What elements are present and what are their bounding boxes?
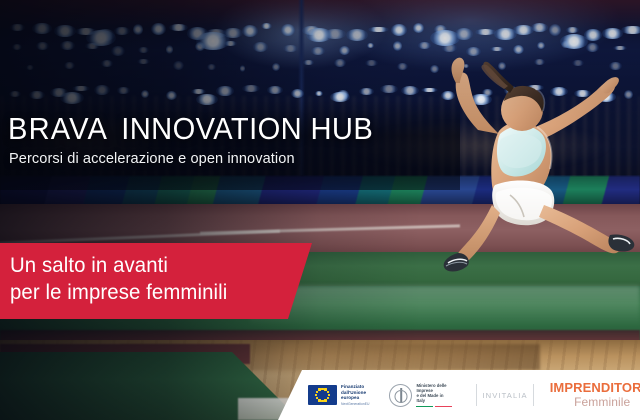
italian-flag-bars-icon	[416, 406, 452, 408]
sponsor-logo-row: Finanziato dall'Unione europea NextGener…	[308, 376, 640, 414]
italian-republic-emblem-icon	[389, 384, 412, 407]
ministry-line2: e del Made in Italy	[416, 393, 452, 403]
flag-bar-red	[435, 406, 452, 408]
invitalia-logo: INVITALIA	[476, 384, 533, 406]
imprenditoria-femminile-logo: IMPRENDITORIA Femminile	[550, 381, 640, 409]
imprenditoria-line2: Femminile	[550, 396, 640, 409]
highlight-banner-line2: per le imprese femminili	[10, 279, 291, 306]
eu-funding-logo: Finanziato dall'Unione europea NextGener…	[308, 384, 369, 405]
ministry-text: Ministero delle Imprese e del Made in It…	[416, 383, 452, 408]
eu-line3: NextGenerationEU	[341, 402, 369, 406]
page-title: BRAVAINNOVATION HUB	[8, 111, 373, 147]
invitalia-divider-right	[533, 384, 534, 406]
invitalia-wordmark: INVITALIA	[482, 391, 527, 400]
poster-banner: BRAVAINNOVATION HUB Percorsi di accelera…	[0, 0, 640, 420]
flag-bar-green	[416, 406, 433, 408]
invitalia-divider-left	[476, 384, 477, 406]
page-subtitle: Percorsi di accelerazione e open innovat…	[9, 150, 295, 167]
ministry-logo: Ministero delle Imprese e del Made in It…	[389, 383, 452, 408]
eu-line2: dall'Unione europea	[341, 390, 369, 401]
page-title-brand: BRAVA	[8, 111, 108, 146]
highlight-banner-text: Un salto in avanti per le imprese femmin…	[10, 252, 291, 306]
eu-funding-text: Finanziato dall'Unione europea NextGener…	[341, 384, 369, 405]
athlete-long-jumper-image	[400, 35, 640, 305]
page-title-rest: INNOVATION HUB	[121, 111, 373, 146]
eu-flag-icon	[308, 385, 337, 405]
imprenditoria-line1: IMPRENDITORIA	[550, 381, 640, 395]
highlight-banner-line1: Un salto in avanti	[10, 252, 291, 279]
ministry-line1: Ministero delle Imprese	[416, 383, 452, 393]
